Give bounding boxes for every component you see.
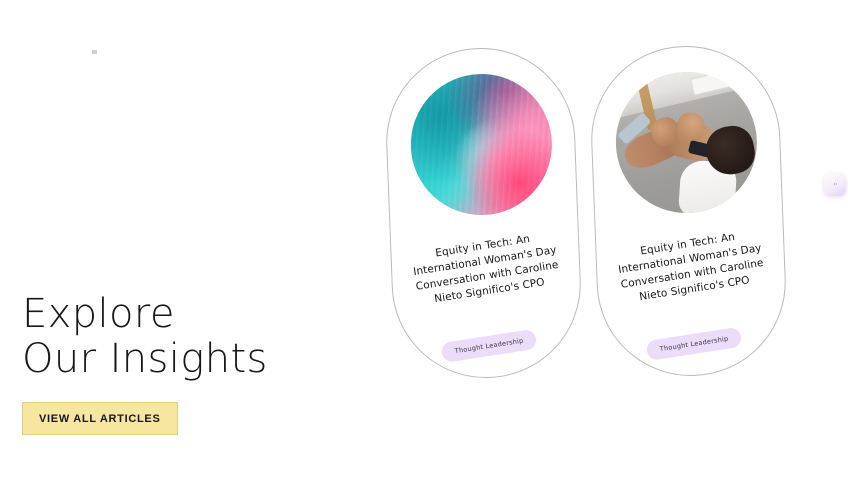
headline-line-1: Explore	[22, 291, 175, 337]
article-title: Equity in Tech: An International Woman's…	[612, 226, 769, 308]
article-card-list: Equity in Tech: An International Woman's…	[370, 0, 848, 502]
page-title: ExploreOur Insights	[22, 292, 352, 382]
headline-line-2: Our Insights	[22, 336, 268, 382]
widget-glyph-icon: ··	[833, 181, 837, 189]
article-card[interactable]: Equity in Tech: An International Woman's…	[383, 44, 585, 381]
insights-section: ExploreOur Insights VIEW ALL ARTICLES Eq…	[0, 0, 848, 502]
article-title: Equity in Tech: An International Woman's…	[407, 228, 564, 310]
article-thumbnail	[408, 71, 554, 217]
cta-wrapper: VIEW ALL ARTICLES	[22, 402, 352, 435]
floating-widget-button[interactable]: ··	[824, 174, 846, 196]
article-card[interactable]: Equity in Tech: An International Woman's…	[588, 42, 790, 379]
article-thumbnail	[613, 69, 759, 215]
section-intro: ExploreOur Insights VIEW ALL ARTICLES	[22, 292, 352, 435]
watercolor-abstract-image	[408, 71, 554, 217]
category-badge[interactable]: Thought Leadership	[440, 329, 537, 363]
fist-bump-photo-image	[613, 69, 759, 215]
view-all-articles-button[interactable]: VIEW ALL ARTICLES	[22, 402, 178, 435]
category-badge[interactable]: Thought Leadership	[645, 327, 742, 361]
corner-artifact-mark	[92, 50, 97, 54]
